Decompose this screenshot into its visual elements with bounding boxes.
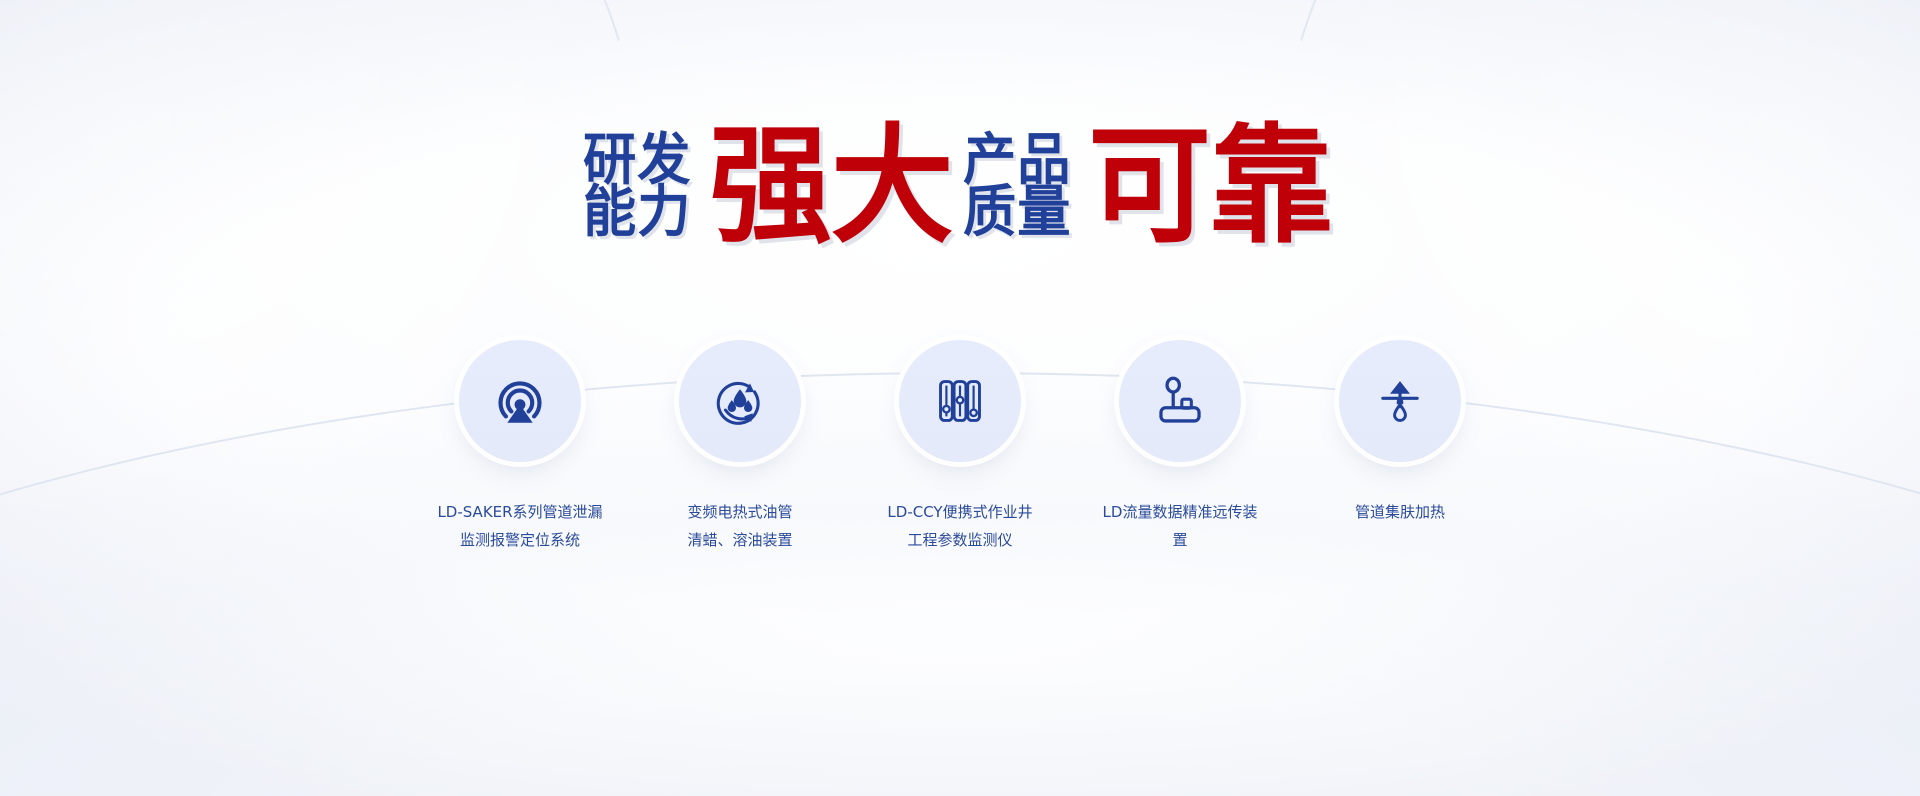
feature-item[interactable]: LD流量数据精准远传装置 — [1097, 340, 1263, 554]
feature-item[interactable]: 管道集肤加热 — [1317, 340, 1483, 526]
promo-banner: 研发 能力 强大 产品 质量 可靠 — [0, 0, 1920, 796]
three-gauges-icon — [931, 372, 989, 430]
water-drop-cycle-icon — [711, 372, 769, 430]
broadcast-signal-icon — [491, 372, 549, 430]
headline-stacked-text: 研发 能力 — [583, 135, 697, 238]
headline-group-rd-capability: 研发 能力 — [583, 135, 697, 238]
feature-icon-bubble — [899, 340, 1021, 462]
feature-item[interactable]: 变频电热式油管 清蜡、溶油装置 — [657, 340, 823, 554]
headline-line-2: 质量 — [963, 187, 1072, 239]
feature-icon-bubble — [459, 340, 581, 462]
headline-group-reliable: 可靠 — [1083, 123, 1336, 251]
flow-meter-icon — [1151, 372, 1209, 430]
feature-icon-bubble — [1119, 340, 1241, 462]
feature-caption: LD流量数据精准远传装置 — [1097, 498, 1263, 554]
heat-rise-drop-icon — [1371, 372, 1429, 430]
headline-group-strong: 强大 — [704, 123, 957, 251]
feature-caption: 管道集肤加热 — [1355, 498, 1445, 526]
feature-item[interactable]: LD-SAKER系列管道泄漏 监测报警定位系统 — [437, 340, 603, 554]
headline-emphasis-text: 可靠 — [1088, 123, 1331, 251]
feature-caption: LD-CCY便携式作业井 工程参数监测仪 — [887, 498, 1032, 554]
feature-icon-bubble — [1339, 340, 1461, 462]
headline: 研发 能力 强大 产品 质量 可靠 — [0, 112, 1920, 262]
headline-line-2: 能力 — [583, 187, 692, 239]
feature-list: LD-SAKER系列管道泄漏 监测报警定位系统 变频电热式油管 清 — [0, 340, 1920, 554]
headline-group-product-quality: 产品 质量 — [963, 135, 1077, 238]
headline-emphasis-text: 强大 — [709, 123, 952, 251]
headline-stacked-text: 产品 质量 — [963, 135, 1077, 238]
feature-caption: LD-SAKER系列管道泄漏 监测报警定位系统 — [437, 498, 602, 554]
feature-item[interactable]: LD-CCY便携式作业井 工程参数监测仪 — [877, 340, 1043, 554]
feature-icon-bubble — [679, 340, 801, 462]
feature-caption: 变频电热式油管 清蜡、溶油装置 — [687, 498, 792, 554]
